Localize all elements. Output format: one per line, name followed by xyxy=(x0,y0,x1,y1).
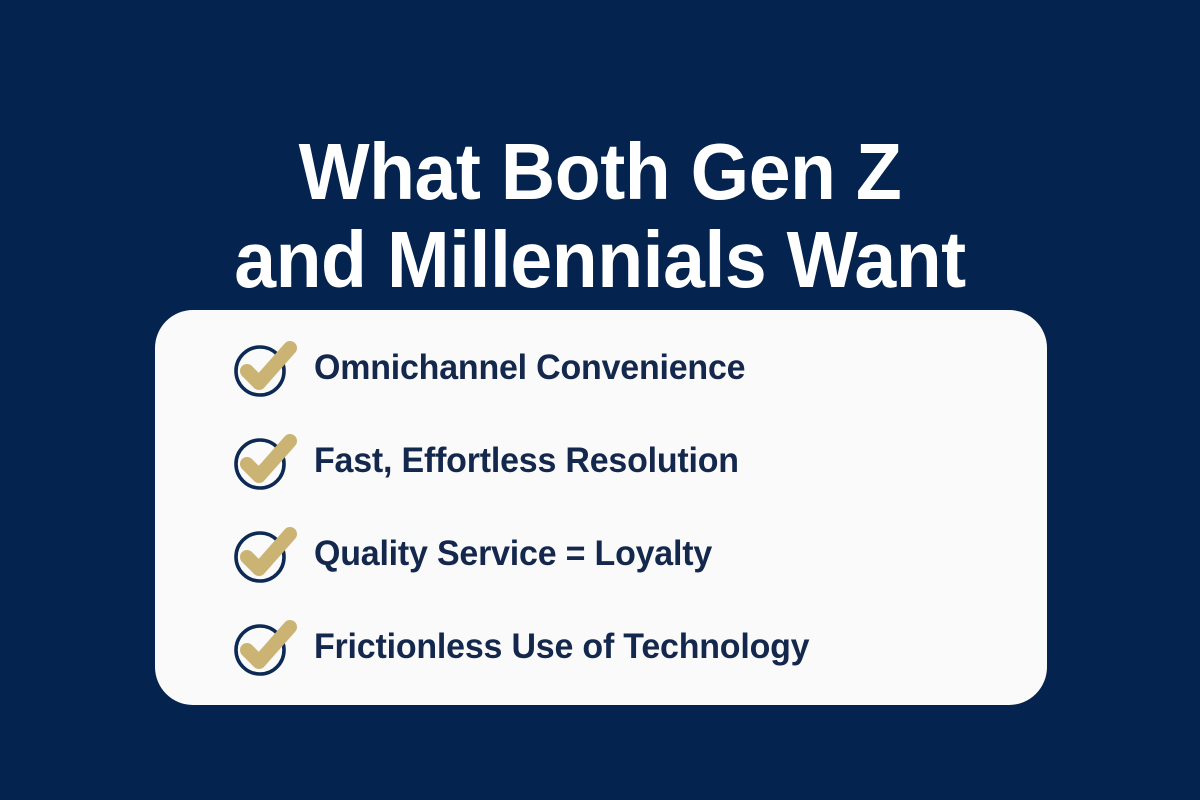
page-title: What Both Gen Z and Millennials Want xyxy=(36,128,1164,304)
list-item-label: Quality Service = Loyalty xyxy=(314,534,712,574)
list-item: Frictionless Use of Technology xyxy=(155,601,1047,694)
list-item: Quality Service = Loyalty xyxy=(155,508,1047,601)
list-item: Fast, Effortless Resolution xyxy=(155,415,1047,508)
list-item-label: Omnichannel Convenience xyxy=(314,348,745,388)
page-title-line-2: and Millennials Want xyxy=(36,216,1164,304)
benefits-list: Omnichannel Convenience Fast, Effortless… xyxy=(155,310,1047,705)
list-item-label: Frictionless Use of Technology xyxy=(314,627,809,667)
slide-canvas: What Both Gen Z and Millennials Want Omn… xyxy=(0,0,1200,800)
page-title-line-1: What Both Gen Z xyxy=(36,128,1164,216)
benefits-card: Omnichannel Convenience Fast, Effortless… xyxy=(155,310,1047,705)
list-item: Omnichannel Convenience xyxy=(155,322,1047,415)
list-item-label: Fast, Effortless Resolution xyxy=(314,441,739,481)
check-circle-icon xyxy=(234,430,304,492)
check-circle-icon xyxy=(234,616,304,678)
check-circle-icon xyxy=(234,337,304,399)
check-circle-icon xyxy=(234,523,304,585)
